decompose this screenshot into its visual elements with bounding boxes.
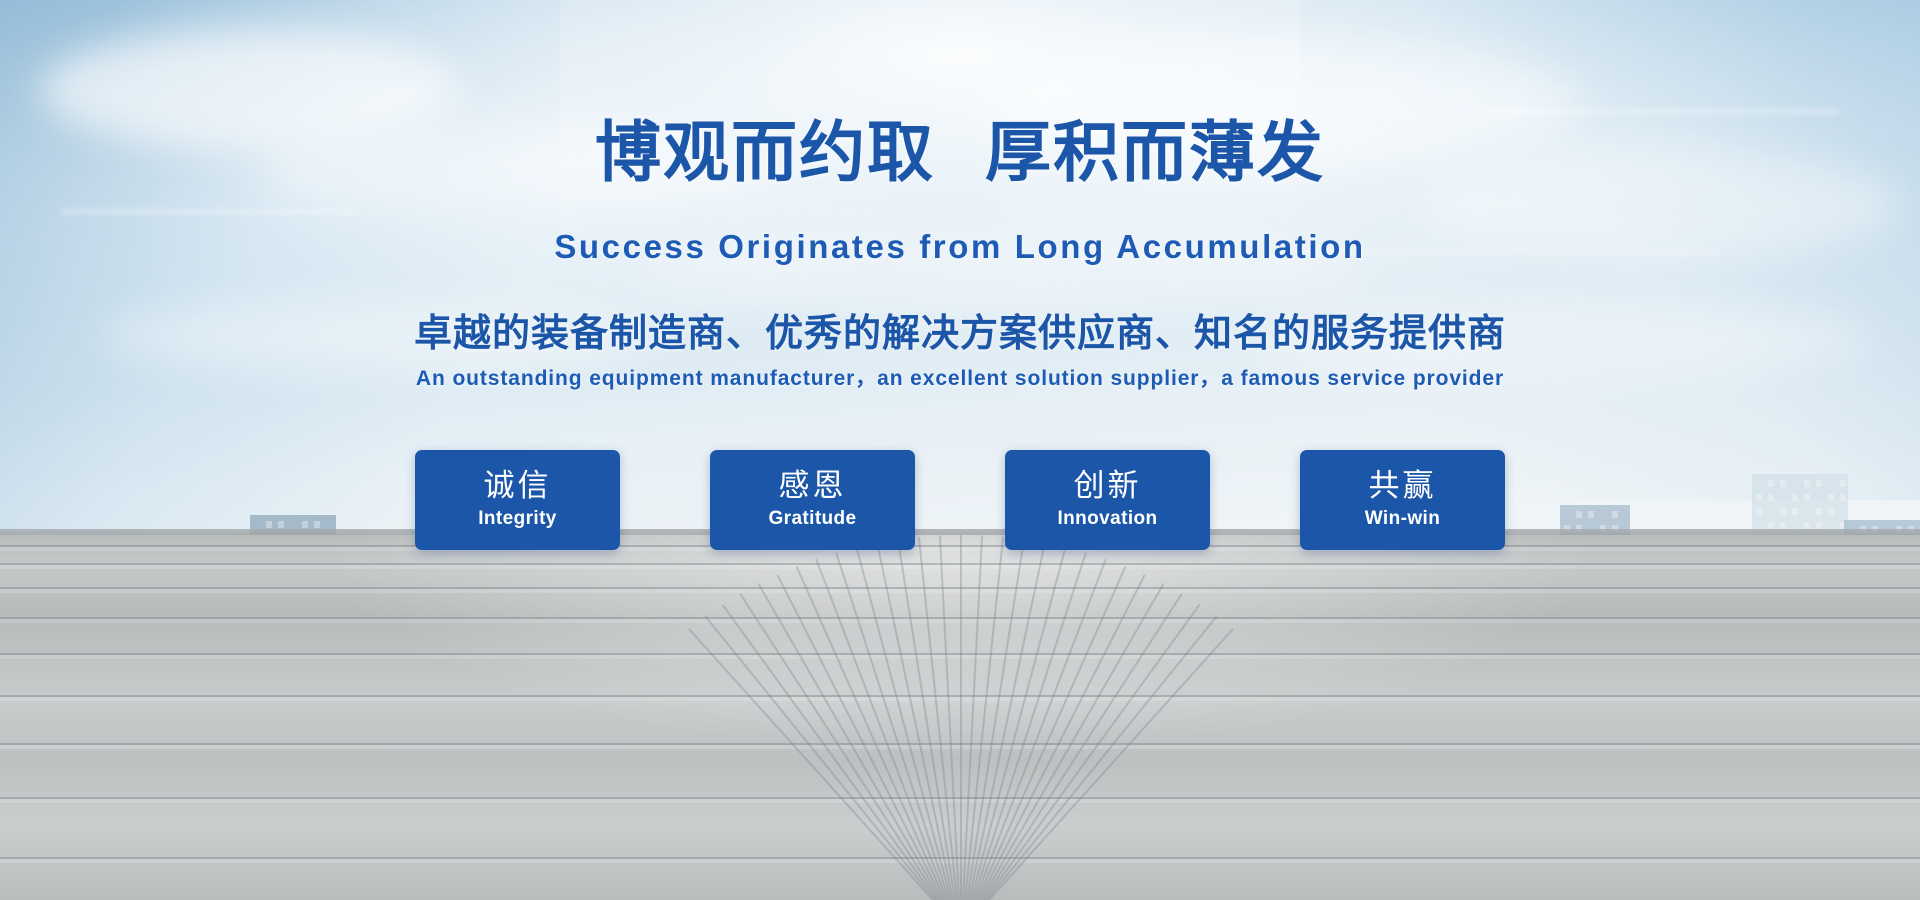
value-card-winwin[interactable]: 共赢 Win-win [1300,450,1505,550]
value-card-label-cn: 诚信 [484,470,552,503]
banner-content: 博观而约取 厚积而薄发 Success Originates from Long… [0,0,1920,900]
value-card-label-cn: 感恩 [779,470,847,503]
value-card-label-en: Innovation [1057,508,1157,530]
subtitle-english: An outstanding equipment manufacturer，an… [0,362,1920,392]
value-card-label-cn: 创新 [1074,470,1142,503]
value-card-label-en: Integrity [478,508,557,530]
headline-english: Success Originates from Long Accumulatio… [0,228,1920,266]
headline-chinese: 博观而约取 厚积而薄发 [0,120,1920,186]
value-card-integrity[interactable]: 诚信 Integrity [415,450,620,550]
subtitle-chinese: 卓越的装备制造商、优秀的解决方案供应商、知名的服务提供商 [0,302,1920,357]
value-card-label-cn: 共赢 [1369,470,1437,503]
hero-banner: 博观而约取 厚积而薄发 Success Originates from Long… [0,0,1920,900]
value-card-label-en: Gratitude [768,508,856,530]
value-card-list: 诚信 Integrity 感恩 Gratitude 创新 Innovation … [0,450,1920,550]
value-card-gratitude[interactable]: 感恩 Gratitude [710,450,915,550]
value-card-label-en: Win-win [1365,508,1440,530]
value-card-innovation[interactable]: 创新 Innovation [1005,450,1210,550]
